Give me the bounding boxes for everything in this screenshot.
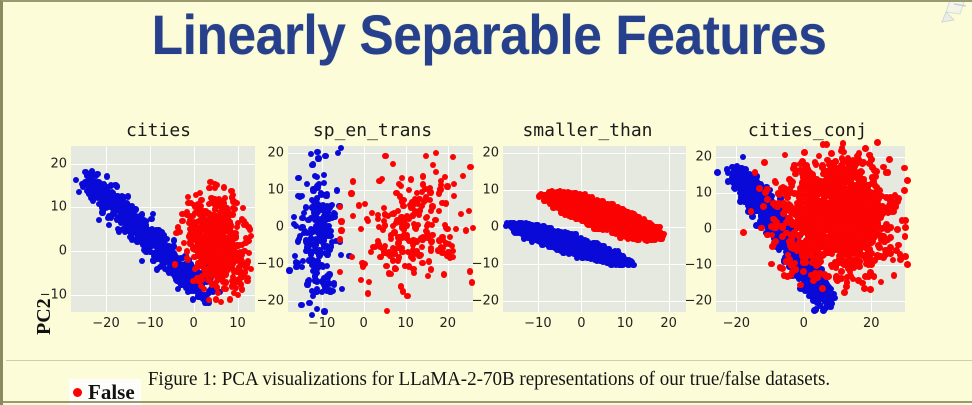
scatter-point [310,229,316,235]
scatter-point [224,223,230,229]
scatter-point [755,201,762,208]
scatter-point [205,223,211,229]
scatter-point [570,241,576,247]
scatter-point [120,213,126,219]
scatter-point [546,235,552,241]
scatter-point [125,219,131,225]
scatter-point [789,257,796,264]
scatter-point [587,250,593,256]
scatter-point [173,276,179,282]
scatter-point [317,236,323,242]
scatter-point [792,232,799,239]
scatter-point [842,195,849,202]
scatter-point [811,307,818,314]
scatter-point [440,237,446,243]
scatter-point [552,193,558,199]
scatter-point [536,236,542,242]
scatter-point [616,215,622,221]
scatter-point [588,254,594,260]
scatter-point [858,207,865,214]
scatter-point [740,175,747,182]
scatter-point [549,192,555,198]
scatter-point [649,229,655,235]
scatter-point [211,252,217,258]
scatter-point [376,178,382,184]
scatter-point [743,181,750,188]
scatter-point [322,225,328,231]
scatter-point [569,240,575,246]
scatter-point [824,292,831,299]
scatter-point [857,240,864,247]
scatter-point [547,232,553,238]
scatter-point [757,196,764,203]
scatter-point [128,233,134,239]
scatter-point [821,271,828,278]
scatter-point [248,233,254,239]
scatter-point [84,172,90,178]
y-tick-label: 0 [276,220,284,235]
scatter-point [763,203,770,210]
scatter-point [860,211,867,218]
scatter-point [591,247,597,253]
scatter-point [213,239,219,245]
scatter-point [212,221,218,227]
scatter-point [766,209,773,216]
scatter-point [573,212,579,218]
scatter-point [325,274,331,280]
scatter-point [171,264,177,270]
scatter-point [817,282,824,289]
scatter-point [840,194,847,201]
scatter-point [640,229,646,235]
scatter-point [137,231,143,237]
scatter-point [768,214,775,221]
scatter-point [138,219,144,225]
scatter-point [784,237,791,244]
scatter-point [299,215,305,221]
scatter-point [873,214,880,221]
scatter-point [788,253,795,260]
scatter-point [181,279,187,285]
scatter-point [208,227,214,233]
scatter-point [93,193,99,199]
scatter-point [138,225,144,231]
scatter-point [93,179,99,185]
scatter-point [209,281,215,287]
scatter-point [314,248,320,254]
scatter-point [593,217,599,223]
scatter-point [787,236,794,243]
scatter-point [214,239,220,245]
scatter-point [218,275,224,281]
scatter-point [548,191,554,197]
scatter-point [555,201,561,207]
scatter-point [211,231,217,237]
scatter-point [609,230,615,236]
scatter-point [210,236,216,242]
scatter-point [613,255,619,261]
scatter-point [778,219,785,226]
scatter-point [199,212,205,218]
scatter-point [773,244,780,251]
scatter-point [567,231,573,237]
scatter-point [129,203,135,209]
scatter-point [771,225,778,232]
scatter-point [158,254,164,260]
scatter-point [545,242,551,248]
scatter-point [654,234,660,240]
scatter-point [206,240,212,246]
scatter-point [781,220,788,227]
scatter-point [811,276,818,283]
scatter-point [605,203,611,209]
scatter-point [850,239,857,246]
scatter-point [592,209,598,215]
scatter-point [743,182,750,189]
scatter-point [810,286,817,293]
scatter-point [583,200,589,206]
scatter-point [531,236,537,242]
scatter-point [588,198,594,204]
scatter-point [214,258,220,264]
scatter-point [869,212,876,219]
scatter-point [802,246,809,253]
scatter-point [439,200,445,206]
scatter-point [797,185,804,192]
scatter-point [577,250,583,256]
scatter-point [214,226,220,232]
scatter-point [650,230,656,236]
scatter-point [182,261,188,267]
scatter-point [594,240,600,246]
scatter-point [322,285,328,291]
scatter-point [829,208,836,215]
scatter-point [207,220,213,226]
scatter-point [208,230,214,236]
scatter-point [805,287,812,294]
scatter-point [611,209,617,215]
scatter-point [559,197,565,203]
scatter-point [746,179,753,186]
scatter-point [617,258,623,264]
scatter-point [90,197,96,203]
scatter-point [196,230,202,236]
scatter-point [514,223,520,229]
scatter-point [745,185,752,192]
scatter-point [609,220,615,226]
scatter-point [550,205,556,211]
scatter-point [575,242,581,248]
scatter-point [836,199,843,206]
scatter-point [192,279,198,285]
scatter-point [172,261,178,267]
scatter-point [128,230,134,236]
scatter-point [796,275,803,282]
scatter-point [782,207,789,214]
scatter-point [209,197,215,203]
scatter-point [902,253,909,260]
scatter-point [781,220,788,227]
scatter-point [779,233,786,240]
scatter-point [766,199,773,206]
scatter-point [738,184,745,191]
scatter-point [550,231,556,237]
scatter-point [771,221,778,228]
scatter-point [608,220,614,226]
scatter-point [205,219,211,225]
scatter-point [200,251,206,257]
plot-area-cities: −1001020−20−10010 [71,146,255,312]
scatter-point [391,210,397,216]
scatter-point [746,171,753,178]
scatter-point [208,256,214,262]
scatter-point [519,231,525,237]
scatter-point [595,244,601,250]
scatter-point [238,256,244,262]
scatter-point [211,244,217,250]
scatter-point [310,293,316,299]
scatter-point [185,284,191,290]
scatter-point [779,239,786,246]
scatter-point [573,204,579,210]
scatter-point [643,228,649,234]
scatter-point [745,173,752,180]
scatter-point [208,260,214,266]
scatter-point [214,267,220,273]
scatter-point [815,269,822,276]
scatter-point [324,273,330,279]
scatter-point [297,233,303,239]
scatter-point [558,240,564,246]
scatter-point [208,230,214,236]
scatter-point [734,167,741,174]
scatter-point [797,257,804,264]
scatter-point [613,260,619,266]
scatter-point [861,197,868,204]
scatter-point [587,214,593,220]
scatter-point [774,217,781,224]
scatter-point [217,252,223,258]
scatter-point [181,271,187,277]
scatter-point [806,279,813,286]
scatter-point [564,208,570,214]
scatter-point [606,210,612,216]
scatter-point [230,266,236,272]
scatter-point [743,175,750,182]
scatter-point [783,227,790,234]
scatter-point [205,299,211,305]
scatter-point [605,248,611,254]
scatter-point [211,223,217,229]
scatter-point [563,203,569,209]
scatter-point [214,278,220,284]
gridline-vertical [406,146,407,312]
scatter-point [610,229,616,235]
scatter-point [641,216,647,222]
scatter-point [584,246,590,252]
scatter-point [208,230,214,236]
scatter-point [194,275,200,281]
scatter-point [231,281,237,287]
scatter-point [207,230,213,236]
scatter-point [586,207,592,213]
scatter-point [414,197,420,203]
scatter-point [210,230,216,236]
scatter-point [212,220,218,226]
scatter-point [395,240,401,246]
scatter-point [214,200,220,206]
scatter-point [545,241,551,247]
scatter-point [779,236,786,243]
scatter-point [127,214,133,220]
scatter-point [201,262,207,268]
scatter-point [586,208,592,214]
scatter-point [600,256,606,262]
scatter-point [208,253,214,259]
scatter-point [574,205,580,211]
scatter-point [230,241,236,247]
scatter-point [748,177,755,184]
scatter-point [561,244,567,250]
scatter-point [206,210,212,216]
scatter-point [645,231,651,237]
scatter-point [387,253,393,259]
scatter-point [558,235,564,241]
scatter-point [433,169,439,175]
scatter-point [772,214,779,221]
scatter-point [647,233,653,239]
panel-cities: cities −1001020−20−10010 [51,120,266,340]
scatter-point [238,272,244,278]
scatter-point [556,243,562,249]
scatter-point [553,204,559,210]
scatter-point [882,251,889,258]
scatter-point [136,223,142,229]
scatter-point [396,254,402,260]
scatter-point [610,215,616,221]
scatter-point [143,226,149,232]
scatter-point [815,265,822,272]
scatter-point [160,252,166,258]
scatter-point [572,250,578,256]
scatter-point [297,194,303,200]
scatter-point [195,228,201,234]
scatter-point [600,208,606,214]
scatter-point [207,236,213,242]
scatter-point [642,231,648,237]
scatter-point [813,292,820,299]
scatter-point [825,297,832,304]
scatter-point [791,250,798,257]
scatter-point [245,224,251,230]
scatter-point [823,243,830,250]
scatter-point [125,214,131,220]
scatter-point [315,209,321,215]
scatter-point [830,211,837,218]
scatter-point [206,185,212,191]
scatter-point [618,216,624,222]
scatter-point [187,239,193,245]
scatter-point [312,278,318,284]
scatter-point [784,237,791,244]
scatter-point [189,213,195,219]
scatter-point [561,194,567,200]
scatter-point [774,220,781,227]
scatter-point [337,269,343,275]
scatter-point [208,286,214,292]
scatter-point [611,253,617,259]
scatter-point [308,251,314,257]
scatter-point [621,230,627,236]
scatter-point [153,255,159,261]
scatter-point [767,195,774,202]
scatter-point [163,244,169,250]
scatter-point [134,231,140,237]
scatter-point [797,213,804,220]
scatter-point [605,209,611,215]
scatter-point [151,237,157,243]
scatter-point [605,257,611,263]
scatter-point [208,237,214,243]
scatter-point [764,210,771,217]
scatter-point [796,268,803,275]
scatter-point [139,239,145,245]
scatter-point [595,202,601,208]
scatter-point [809,222,816,229]
scatter-point [568,203,574,209]
scatter-point [522,229,528,235]
scatter-point [530,231,536,237]
scatter-point [814,273,821,280]
scatter-point [657,235,663,241]
scatter-point [450,154,456,160]
scatter-point [575,248,581,254]
scatter-point [119,193,125,199]
scatter-point [230,260,236,266]
scatter-point [397,234,403,240]
scatter-point [763,216,770,223]
scatter-point [658,230,664,236]
scatter-point [809,197,816,204]
scatter-point [597,251,603,257]
scatter-point [197,237,203,243]
scatter-point [211,244,217,250]
scatter-point [512,228,518,234]
scatter-point [737,174,744,181]
scatter-point [142,244,148,250]
scatter-point [558,244,564,250]
scatter-point [552,230,558,236]
scatter-point [218,218,224,224]
y-tick-label: 0 [59,243,67,258]
scatter-point [552,194,558,200]
scatter-point [747,194,754,201]
scatter-point [547,191,553,197]
scatter-point [116,198,122,204]
scatter-point [787,253,794,260]
scatter-point [874,231,881,238]
scatter-point [826,171,833,178]
scatter-point [816,285,823,292]
gridline-vertical [322,146,323,312]
scatter-point [739,179,746,186]
scatter-point [93,180,99,186]
scatter-point [552,243,558,249]
scatter-point [142,228,148,234]
scatter-point [819,281,826,288]
scatter-point [834,213,841,220]
scatter-point [540,192,546,198]
